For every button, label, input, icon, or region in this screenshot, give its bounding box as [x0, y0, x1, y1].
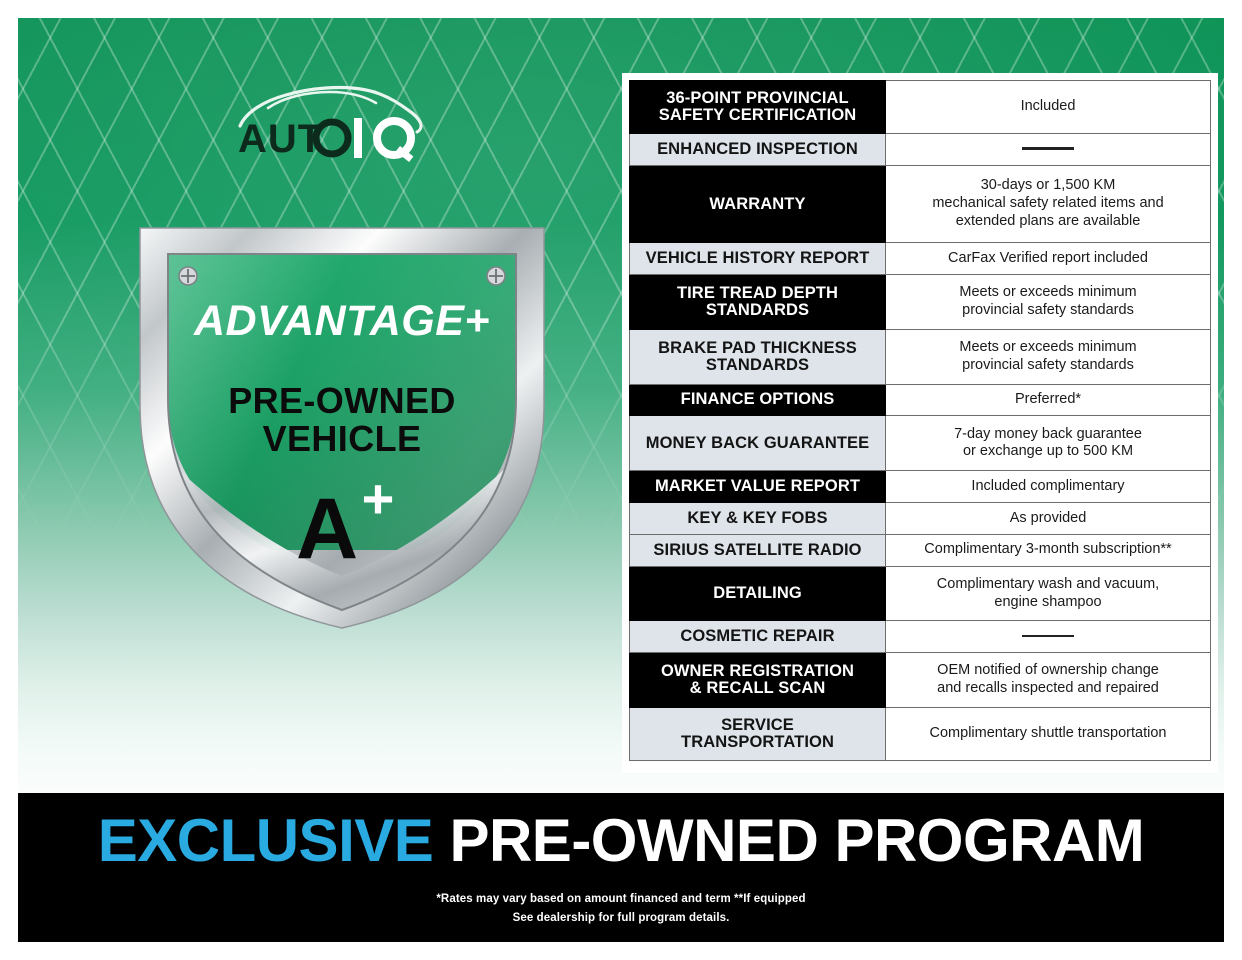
feature-value-cell: As provided: [886, 502, 1211, 534]
feature-value-cell: Complimentary 3-month subscription**: [886, 534, 1211, 566]
feature-value-line: and recalls inspected and repaired: [890, 680, 1206, 698]
table-row: FINANCE OPTIONSPreferred*: [630, 384, 1211, 416]
feature-label-line: OWNER REGISTRATION: [634, 663, 881, 680]
advantage-plus-poster: AUT AUTO IQ: [0, 0, 1242, 960]
screw-icon-left: [179, 267, 197, 285]
feature-label-line: MARKET VALUE REPORT: [634, 478, 881, 495]
feature-label-cell: OWNER REGISTRATION& RECALL SCAN: [630, 653, 886, 708]
feature-label-cell: BRAKE PAD THICKNESSSTANDARDS: [630, 329, 886, 384]
feature-label-line: WARRANTY: [634, 196, 881, 213]
feature-label-line: STANDARDS: [634, 302, 881, 319]
table-row: WARRANTY30-days or 1,500 KMmechanical sa…: [630, 165, 1211, 243]
feature-value-cell: Complimentary wash and vacuum,engine sha…: [886, 566, 1211, 621]
table-row: VEHICLE HISTORY REPORTCarFax Verified re…: [630, 243, 1211, 275]
feature-label-line: COSMETIC REPAIR: [634, 628, 881, 645]
feature-label-line: SERVICE: [634, 717, 881, 734]
feature-label-cell: ENHANCED INSPECTION: [630, 133, 886, 165]
feature-label-line: TIRE TREAD DEPTH: [634, 285, 881, 302]
feature-label-cell: FINANCE OPTIONS: [630, 384, 886, 416]
table-row: COSMETIC REPAIR: [630, 621, 1211, 653]
feature-label-line: STANDARDS: [634, 357, 881, 374]
shield-grade-letter: A: [296, 481, 358, 577]
feature-label-line: BRAKE PAD THICKNESS: [634, 340, 881, 357]
logo-text-auto: AUT: [238, 117, 348, 161]
banner-title-highlight: EXCLUSIVE: [98, 807, 434, 874]
shield-grade-plus: +: [362, 467, 395, 530]
feature-label-line: ENHANCED INSPECTION: [634, 141, 881, 158]
feature-value-cell: 30-days or 1,500 KMmechanical safety rel…: [886, 165, 1211, 243]
feature-label-cell: 36-POINT PROVINCIALSAFETY CERTIFICATION: [630, 81, 886, 134]
fineprint-line-1: *Rates may vary based on amount financed…: [18, 890, 1224, 909]
feature-value-cell: [886, 133, 1211, 165]
feature-label-line: SIRIUS SATELLITE RADIO: [634, 542, 881, 559]
table-row: SERVICETRANSPORTATIONComplimentary shutt…: [630, 707, 1211, 760]
feature-value-line: provincial safety standards: [890, 357, 1206, 375]
feature-value-line: Preferred*: [890, 391, 1206, 409]
features-table-card: 36-POINT PROVINCIALSAFETY CERTIFICATIONI…: [622, 73, 1218, 773]
feature-label-cell: KEY & KEY FOBS: [630, 502, 886, 534]
fineprint-line-2: See dealership for full program details.: [18, 909, 1224, 928]
feature-value-line: mechanical safety related items and: [890, 195, 1206, 213]
feature-value-line: Included complimentary: [890, 478, 1206, 496]
feature-label-line: DETAILING: [634, 585, 881, 602]
feature-label-line: TRANSPORTATION: [634, 734, 881, 751]
table-row: DETAILINGComplimentary wash and vacuum,e…: [630, 566, 1211, 621]
feature-value-line: extended plans are available: [890, 213, 1206, 231]
feature-value-line: provincial safety standards: [890, 302, 1206, 320]
feature-value-line: Complimentary wash and vacuum,: [890, 576, 1206, 594]
feature-label-line: MONEY BACK GUARANTEE: [634, 435, 881, 452]
feature-label-cell: DETAILING: [630, 566, 886, 621]
dash-icon: [1022, 147, 1074, 150]
table-row: TIRE TREAD DEPTHSTANDARDSMeets or exceed…: [630, 275, 1211, 330]
advantage-shield-badge: ADVANTAGE+ PRE-OWNED VEHICLE A +: [122, 210, 562, 635]
shield-subtitle-line2: VEHICLE: [263, 418, 422, 459]
feature-label-line: VEHICLE HISTORY REPORT: [634, 250, 881, 267]
feature-value-cell: CarFax Verified report included: [886, 243, 1211, 275]
table-row: KEY & KEY FOBSAs provided: [630, 502, 1211, 534]
table-row: MARKET VALUE REPORTIncluded complimentar…: [630, 471, 1211, 503]
feature-label-cell: COSMETIC REPAIR: [630, 621, 886, 653]
banner-title: EXCLUSIVE PRE-OWNED PROGRAM: [18, 811, 1224, 871]
feature-value-line: Meets or exceeds minimum: [890, 339, 1206, 357]
feature-value-line: Complimentary 3-month subscription**: [890, 541, 1206, 559]
feature-value-line: CarFax Verified report included: [890, 250, 1206, 268]
hero-panel: AUT AUTO IQ: [18, 18, 1224, 793]
feature-value-cell: 7-day money back guaranteeor exchange up…: [886, 416, 1211, 471]
feature-value-cell: [886, 621, 1211, 653]
feature-label-cell: SIRIUS SATELLITE RADIO: [630, 534, 886, 566]
bottom-banner: EXCLUSIVE PRE-OWNED PROGRAM *Rates may v…: [18, 793, 1224, 942]
feature-value-cell: Meets or exceeds minimumprovincial safet…: [886, 275, 1211, 330]
feature-label-cell: MARKET VALUE REPORT: [630, 471, 886, 503]
feature-value-line: Included: [890, 98, 1206, 116]
feature-value-cell: Preferred*: [886, 384, 1211, 416]
dash-icon: [1022, 635, 1074, 638]
feature-value-cell: OEM notified of ownership changeand reca…: [886, 653, 1211, 708]
feature-label-line: & RECALL SCAN: [634, 680, 881, 697]
logo-text-iq: [354, 118, 413, 162]
feature-value-line: 30-days or 1,500 KM: [890, 177, 1206, 195]
feature-value-line: or exchange up to 500 KM: [890, 443, 1206, 461]
feature-value-line: 7-day money back guarantee: [890, 426, 1206, 444]
table-row: ENHANCED INSPECTION: [630, 133, 1211, 165]
feature-value-cell: Meets or exceeds minimumprovincial safet…: [886, 329, 1211, 384]
feature-label-line: SAFETY CERTIFICATION: [634, 107, 881, 124]
feature-label-line: 36-POINT PROVINCIAL: [634, 90, 881, 107]
banner-title-rest: PRE-OWNED PROGRAM: [433, 807, 1144, 874]
feature-value-cell: Included: [886, 81, 1211, 134]
shield-subtitle-line1: PRE-OWNED: [228, 380, 456, 421]
table-row: MONEY BACK GUARANTEE7-day money back gua…: [630, 416, 1211, 471]
banner-fineprint: *Rates may vary based on amount financed…: [18, 890, 1224, 927]
auto-iq-logo: AUT AUTO IQ: [224, 60, 434, 165]
feature-value-line: Meets or exceeds minimum: [890, 284, 1206, 302]
feature-label-cell: WARRANTY: [630, 165, 886, 243]
feature-value-line: engine shampoo: [890, 594, 1206, 612]
table-row: 36-POINT PROVINCIALSAFETY CERTIFICATIONI…: [630, 81, 1211, 134]
table-row: SIRIUS SATELLITE RADIOComplimentary 3-mo…: [630, 534, 1211, 566]
feature-value-line: OEM notified of ownership change: [890, 662, 1206, 680]
feature-label-line: KEY & KEY FOBS: [634, 510, 881, 527]
feature-label-cell: SERVICETRANSPORTATION: [630, 707, 886, 760]
shield-title: ADVANTAGE+: [193, 297, 490, 345]
feature-value-line: As provided: [890, 510, 1206, 528]
features-table: 36-POINT PROVINCIALSAFETY CERTIFICATIONI…: [629, 80, 1211, 761]
screw-icon-right: [487, 267, 505, 285]
feature-value-cell: Complimentary shuttle transportation: [886, 707, 1211, 760]
feature-label-cell: TIRE TREAD DEPTHSTANDARDS: [630, 275, 886, 330]
table-row: OWNER REGISTRATION& RECALL SCANOEM notif…: [630, 653, 1211, 708]
feature-label-cell: MONEY BACK GUARANTEE: [630, 416, 886, 471]
svg-text:AUT: AUT: [238, 117, 323, 161]
feature-label-cell: VEHICLE HISTORY REPORT: [630, 243, 886, 275]
feature-value-cell: Included complimentary: [886, 471, 1211, 503]
table-row: BRAKE PAD THICKNESSSTANDARDSMeets or exc…: [630, 329, 1211, 384]
feature-label-line: FINANCE OPTIONS: [634, 391, 881, 408]
feature-value-line: Complimentary shuttle transportation: [890, 725, 1206, 743]
